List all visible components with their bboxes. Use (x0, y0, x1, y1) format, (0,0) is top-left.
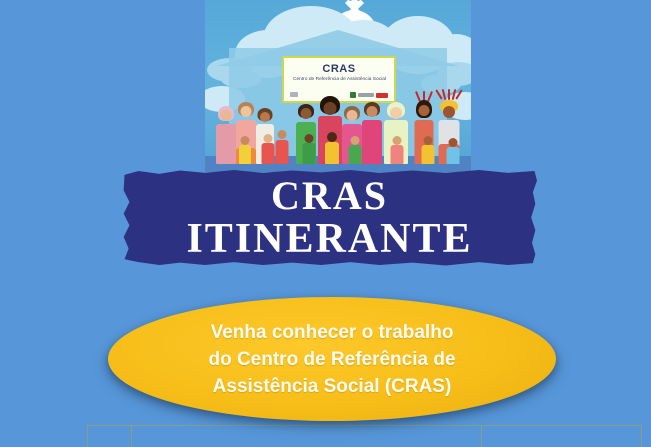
oval-line-1: Venha conhecer o trabalho (208, 319, 455, 346)
subtitle-oval-text: Venha conhecer o trabalho do Centro de R… (208, 319, 455, 400)
signboard-title: CRAS (322, 63, 355, 75)
title-banner-text: CRAS ITINERANTE (122, 169, 537, 266)
child-figure (238, 136, 252, 164)
person-figure (361, 102, 383, 164)
child-figure (274, 130, 290, 164)
person-figure (215, 106, 237, 164)
grid-line-vertical-1 (87, 425, 88, 447)
oval-line-3: Assistência Social (CRAS) (208, 373, 455, 400)
child-figure (301, 134, 317, 164)
poster-canvas: CRAS Centro de Referência de Assistência… (0, 0, 651, 447)
illustration-panel: CRAS Centro de Referência de Assistência… (205, 0, 471, 172)
feather-headdress-icon (438, 86, 460, 100)
grid-line-vertical-2 (131, 425, 132, 447)
grid-line-vertical-3 (481, 425, 482, 447)
signboard-subtitle: Centro de Referência de Assistência Soci… (292, 76, 385, 83)
child-figure (323, 132, 341, 164)
title-line-2: ITINERANTE (186, 218, 472, 260)
crowd-illustration (205, 90, 471, 164)
grid-line-vertical-4 (641, 425, 642, 447)
child-figure (445, 138, 461, 164)
oval-line-2: do Centro de Referência de (208, 346, 455, 373)
subtitle-oval: Venha conhecer o trabalho do Centro de R… (108, 297, 556, 421)
title-line-1: CRAS (271, 176, 388, 216)
child-figure (420, 136, 436, 164)
child-figure (389, 136, 405, 164)
